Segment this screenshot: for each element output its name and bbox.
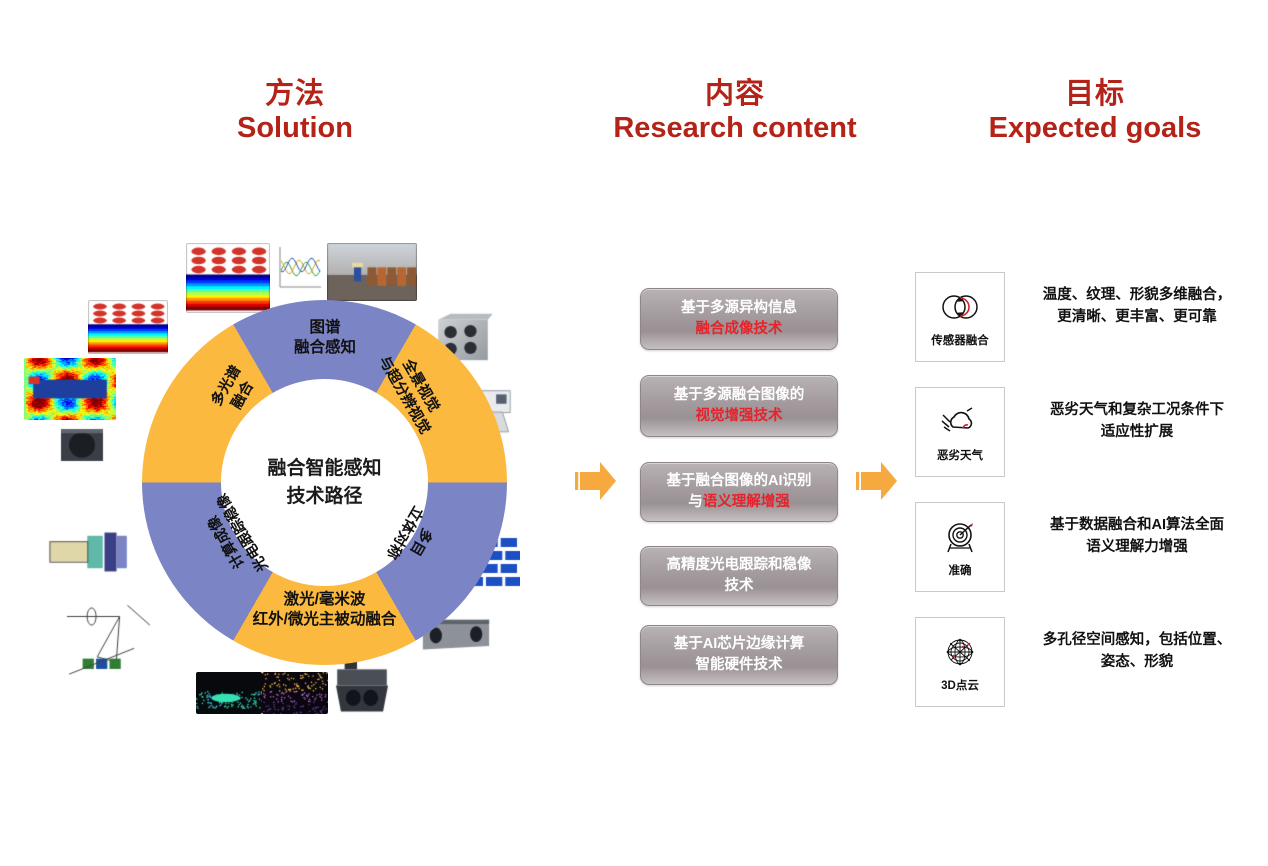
thermal-map-thumb [24, 358, 116, 420]
sensor-fusion-icon [937, 287, 983, 327]
optical-module-thumb [46, 525, 132, 579]
research-item-4[interactable]: 基于AI芯片边缘计算 智能硬件技术 [640, 625, 838, 685]
header-en: Research content [590, 112, 880, 144]
research-item-0[interactable]: 基于多源异构信息 融合成像技术 [640, 288, 838, 350]
research-item-1-plain: 基于多源融合图像的 [674, 387, 805, 403]
goal-text-1: 恶劣天气和复杂工况条件下 适应性扩展 [1018, 400, 1256, 444]
goal-card-caption: 3D点云 [941, 677, 979, 693]
header-en: Solution [150, 112, 440, 144]
arrow-content-to-goals [855, 455, 899, 507]
research-item-3-text: 高精度光电跟踪和稳像 技术 [667, 555, 812, 596]
header-en: Expected goals [945, 112, 1245, 144]
goal-card-caption: 恶劣天气 [937, 447, 983, 463]
goal-card-caption: 传感器融合 [931, 332, 989, 348]
fusion-technology-wheel: 融合智能感知 技术路径 图谱 融合感知 全景视觉 与超分辨视觉 多目 立体对称 … [142, 300, 507, 665]
research-item-1-highlight: 视觉增强技术 [696, 408, 783, 424]
goal-card-sensor-fusion[interactable]: 传感器融合 [915, 272, 1005, 362]
header-cn: 方法 [150, 78, 440, 110]
black-camera-thumb [57, 424, 107, 466]
waveform-plot-thumb [272, 243, 324, 295]
wheel-center-line-1: 融合智能感知 [267, 455, 381, 483]
header-cn: 目标 [945, 78, 1245, 110]
research-item-0-plain: 基于多源异构信息 [681, 300, 797, 316]
lidar-scan-dark-thumb [196, 672, 262, 714]
column-header-research-content: 内容 Research content [590, 78, 880, 145]
goal-card-point-cloud[interactable]: 3D点云 [915, 617, 1005, 707]
research-item-2[interactable]: 基于融合图像的AI识别 与语义理解增强 [640, 462, 838, 522]
diagram-canvas: 方法 Solution 内容 Research content 目标 Expec… [0, 0, 1268, 866]
arrow-solution-to-content [574, 455, 618, 507]
column-header-solution: 方法 Solution [150, 78, 440, 145]
wheel-center-line-2: 技术路径 [286, 483, 362, 511]
point-cloud-icon [937, 632, 983, 672]
column-header-expected-goals: 目标 Expected goals [945, 78, 1245, 145]
pointcloud-city-thumb [262, 672, 328, 714]
research-item-0-highlight: 融合成像技术 [696, 321, 783, 337]
goal-text-2: 基于数据融合和AI算法全面 语义理解力增强 [1018, 515, 1256, 559]
goal-card-accuracy[interactable]: 准确 [915, 502, 1005, 592]
header-cn: 内容 [590, 78, 880, 110]
goal-card-caption: 准确 [949, 562, 972, 578]
research-item-2-plain: 基于融合图像的AI识别 [667, 473, 812, 489]
pipeline-inspection-thumb [327, 243, 417, 301]
research-item-3[interactable]: 高精度光电跟踪和稳像 技术 [640, 546, 838, 606]
research-item-4-text: 基于AI芯片边缘计算 智能硬件技术 [674, 634, 805, 675]
bad-weather-icon [937, 402, 983, 442]
target-accuracy-icon [937, 517, 983, 557]
research-item-2-prefix: 与 [688, 494, 703, 510]
research-item-1[interactable]: 基于多源融合图像的 视觉增强技术 [640, 375, 838, 437]
goal-text-0: 温度、纹理、形貌多维融合， 更清晰、更丰富、更可靠 [1018, 285, 1256, 329]
goal-text-3: 多孔径空间感知，包括位置、 姿态、形貌 [1018, 630, 1256, 674]
research-item-2-highlight: 语义理解增强 [703, 494, 790, 510]
goal-card-bad-weather[interactable]: 恶劣天气 [915, 387, 1005, 477]
